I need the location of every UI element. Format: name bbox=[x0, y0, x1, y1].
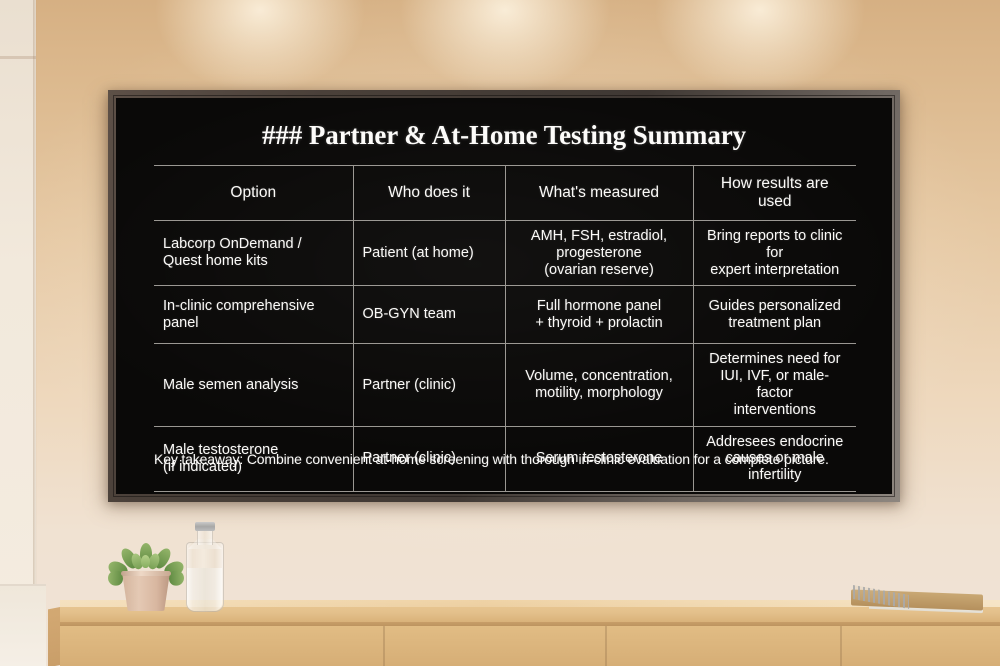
slide-content: ### Partner & At-Home Testing Summary Op… bbox=[116, 98, 892, 494]
plant-leaf-center bbox=[141, 555, 150, 568]
cell-option: In-clinic comprehensivepanel bbox=[154, 286, 353, 344]
table-row: Labcorp OnDemand /Quest home kits Patien… bbox=[154, 220, 856, 285]
column-header-measured: What's measured bbox=[505, 166, 693, 221]
room-scene: ### Partner & At-Home Testing Summary Op… bbox=[0, 0, 1000, 666]
summary-table: Option Who does it What's measured How r… bbox=[154, 165, 856, 492]
cell-option: Labcorp OnDemand /Quest home kits bbox=[154, 220, 353, 285]
sideboard-door-seam bbox=[605, 626, 607, 666]
sideboard-door-seam bbox=[383, 626, 385, 666]
table-row: Male semen analysis Partner (clinic) Vol… bbox=[154, 344, 856, 426]
cell-used: Guides personalizedtreatment plan bbox=[693, 286, 856, 344]
cell-used: Bring reports to clinic forexpert interp… bbox=[693, 220, 856, 285]
bottle-neck bbox=[197, 529, 213, 545]
succulent-plant bbox=[113, 541, 179, 611]
bottle-water bbox=[187, 568, 222, 611]
cell-measured: Full hormone panel+ thyroid + prolactin bbox=[505, 286, 693, 344]
sideboard-cabinet-body bbox=[60, 626, 1000, 666]
slide-title: ### Partner & At-Home Testing Summary bbox=[116, 120, 892, 151]
left-panel-seam bbox=[0, 56, 36, 59]
cell-who: OB-GYN team bbox=[353, 286, 505, 344]
table-row: In-clinic comprehensivepanel OB-GYN team… bbox=[154, 286, 856, 344]
left-panel-edge-shadow bbox=[33, 0, 37, 666]
column-header-used: How results are used bbox=[693, 166, 856, 221]
column-header-option: Option bbox=[154, 166, 353, 221]
column-header-who: Who does it bbox=[353, 166, 505, 221]
spiral-notebook bbox=[851, 589, 983, 615]
left-wall-panel bbox=[0, 0, 36, 666]
cell-who: Partner (clinic) bbox=[353, 344, 505, 426]
display-screen: ### Partner & At-Home Testing Summary Op… bbox=[116, 98, 892, 494]
cell-option: Male semen analysis bbox=[154, 344, 353, 426]
cell-who: Patient (at home) bbox=[353, 220, 505, 285]
glass-water-bottle bbox=[186, 522, 224, 612]
cell-used: Determines need forIUI, IVF, or male-fac… bbox=[693, 344, 856, 426]
left-baseboard bbox=[0, 584, 46, 666]
plant-pot-rim bbox=[121, 571, 171, 576]
sideboard-door-seam bbox=[840, 626, 842, 666]
table-header-row: Option Who does it What's measured How r… bbox=[154, 166, 856, 221]
picture-frame: ### Partner & At-Home Testing Summary Op… bbox=[108, 90, 900, 502]
cell-measured: Volume, concentration,motility, morpholo… bbox=[505, 344, 693, 426]
cell-measured: AMH, FSH, estradiol,progesterone(ovarian… bbox=[505, 220, 693, 285]
plant-pot bbox=[122, 572, 170, 611]
bottle-cap bbox=[195, 522, 215, 531]
key-takeaway-text: Key takeaway: Combine convenient at-home… bbox=[154, 451, 856, 467]
